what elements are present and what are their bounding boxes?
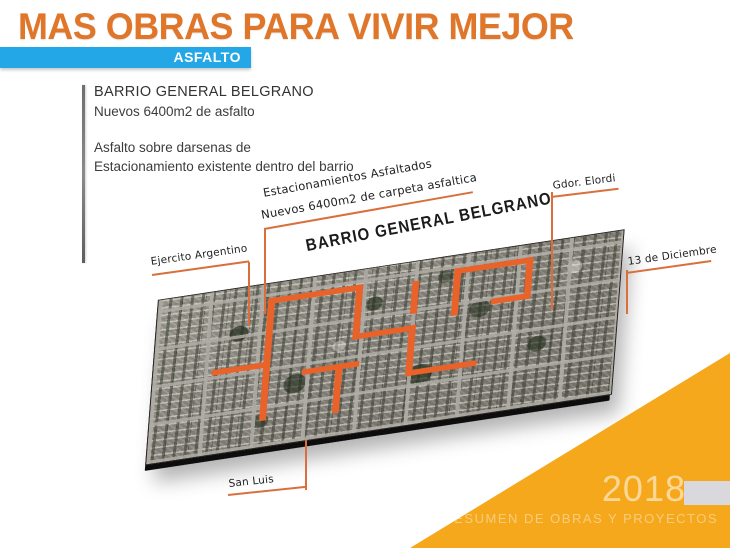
callout-gdor-elordi-leader [551, 192, 553, 310]
footer-corner: 2018 RESUMEN DE OBRAS Y PROYECTOS [410, 353, 730, 548]
info-line-2: Asfalto sobre darsenas de [94, 138, 434, 157]
page-title: MAS OBRAS PARA VIVIR MEJOR [18, 6, 574, 48]
footer-subtitle: RESUMEN DE OBRAS Y PROYECTOS [443, 511, 718, 526]
info-heading: BARRIO GENERAL BELGRANO [94, 83, 434, 102]
footer-year: 2018 [602, 468, 686, 510]
callout-san-luis-leader [305, 440, 307, 490]
callout-estacionamientos-leader [264, 228, 266, 314]
footer-gray-chip [684, 481, 730, 505]
slide-canvas: MAS OBRAS PARA VIVIR MEJOR ASFALTO BARRI… [0, 0, 730, 548]
callout-13-diciembre-leader [626, 270, 628, 314]
asfalto-banner-label: ASFALTO [173, 49, 241, 65]
asfalto-banner: ASFALTO [0, 47, 251, 68]
info-spacer [94, 121, 434, 138]
callout-13-de-diciembre: 13 de Diciembre [627, 244, 718, 268]
info-line-1: Nuevos 6400m2 de asfalto [94, 102, 434, 121]
text-block-divider [82, 85, 85, 263]
callout-ejercito-leader [248, 262, 250, 326]
info-text-block: BARRIO GENERAL BELGRANO Nuevos 6400m2 de… [94, 83, 434, 176]
callout-13-de-diciembre-label: 13 de Diciembre [627, 244, 718, 268]
